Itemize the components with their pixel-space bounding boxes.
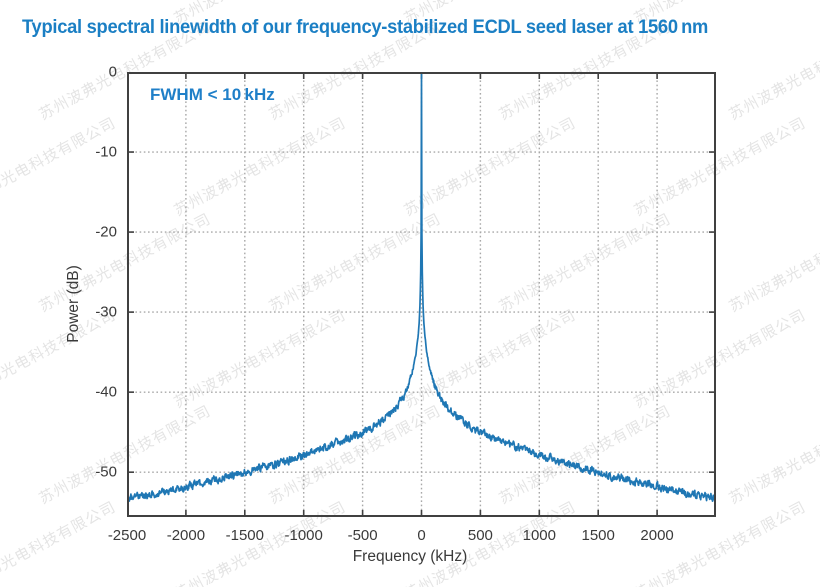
x-tick-label: -500 — [348, 527, 378, 544]
x-tick-label: 0 — [417, 527, 425, 544]
y-tick-label: -50 — [69, 464, 117, 481]
x-tick-label: -1500 — [226, 527, 264, 544]
x-tick-label: -2000 — [167, 527, 205, 544]
x-tick-label: -1000 — [285, 527, 323, 544]
plot-frame — [127, 72, 716, 517]
y-tick-label: -10 — [69, 144, 117, 161]
x-tick-label: 1500 — [582, 527, 615, 544]
fwhm-annotation: FWHM < 10 kHz — [150, 85, 275, 105]
x-tick-label: 1000 — [523, 527, 556, 544]
x-tick-label: 500 — [468, 527, 493, 544]
y-axis-label: Power (dB) — [65, 224, 83, 384]
x-axis-label: Frequency (kHz) — [0, 548, 820, 566]
x-tick-label: -2500 — [108, 527, 146, 544]
page-title: Typical spectral linewidth of our freque… — [22, 16, 708, 39]
x-tick-label: 2000 — [640, 527, 673, 544]
y-tick-label: -40 — [69, 384, 117, 401]
y-tick-label: 0 — [69, 64, 117, 81]
chart-figure: FWHM < 10 kHz -2500-2000-1500-1000-50005… — [0, 0, 820, 587]
